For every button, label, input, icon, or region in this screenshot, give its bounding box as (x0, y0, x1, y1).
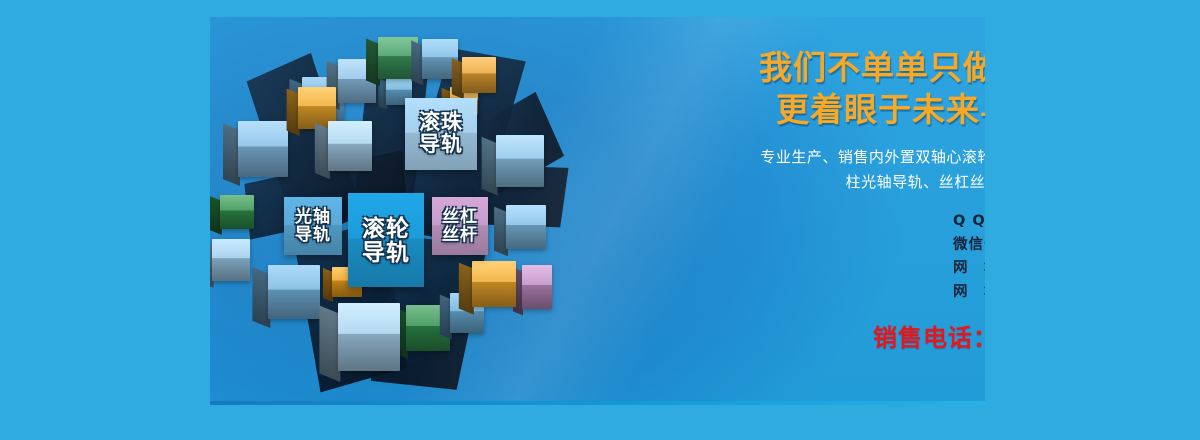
contact-row-website-2: 网 址：Www.Cnzxdg.Com (953, 281, 985, 304)
product-cube-sigang-sigan[interactable]: 丝杠丝杆 (432, 197, 488, 255)
qq-label: Q Q ： (953, 210, 985, 233)
headline-line-2: 更着眼于未来与您长期合作 (755, 89, 985, 131)
cube-front-face (212, 239, 250, 281)
product-cube-label-line-2: 导轨 (419, 134, 463, 156)
decorative-cube (522, 265, 552, 309)
headline-line-1: 我们不单单只做您目前的订单 (759, 48, 985, 87)
cube-cluster-graphic: 滚珠导轨光轴导轨滚轮导轨丝杠丝杆 (210, 17, 550, 405)
product-cube-label-line-1: 滚珠 (419, 112, 463, 134)
decorative-cube (462, 57, 496, 93)
headline: 我们不单单只做您目前的订单 更着眼于未来与您长期合作 (755, 47, 985, 131)
website-2-label: 网 址： (953, 281, 985, 304)
decorative-cube (496, 135, 544, 187)
cube-front-face (220, 195, 254, 229)
product-cube-gunzhu-daogui[interactable]: 滚珠导轨 (405, 98, 477, 170)
product-cube-label-line-1: 滚轮 (362, 216, 410, 240)
promo-banner: 滚珠导轨光轴导轨滚轮导轨丝杠丝杆 我们不单单只做您目前的订单 更着眼于未来与您长… (0, 0, 1200, 440)
product-cube-label-line-1: 光轴 (295, 208, 331, 226)
panel-bottom-bar (210, 401, 985, 405)
wechat-label: 微信号： (953, 234, 985, 257)
decorative-cube (472, 261, 516, 307)
contact-block: Q Q ：80286553 微信号：zxdgzc（直线导轨轴承） 网 址：Www… (755, 210, 985, 304)
product-cube-label: 滚轮导轨 (362, 216, 410, 265)
product-cube-label-line-1: 丝杠 (442, 208, 478, 226)
cube-front-face (472, 261, 516, 307)
cube-front-face (338, 303, 400, 371)
decorative-cube (338, 303, 400, 371)
cube-front-face (268, 265, 320, 319)
decorative-cube (328, 121, 372, 171)
copy-column: 我们不单单只做您目前的订单 更着眼于未来与您长期合作 专业生产、销售内外置双轴心… (755, 47, 985, 353)
product-cube-guangzhou-daogui[interactable]: 光轴导轨 (284, 197, 342, 255)
product-cube-gunlun-daogui[interactable]: 滚轮导轨 (348, 193, 424, 287)
decorative-cube (238, 121, 288, 177)
product-cube-label: 滚珠导轨 (419, 112, 463, 157)
contact-row-website-1: 网 址：Www.Zxdgzc.Com (953, 257, 985, 280)
cube-front-face (462, 57, 496, 93)
cube-front-face (506, 205, 546, 249)
decorative-cube (212, 239, 250, 281)
product-cube-label-line-2: 导轨 (295, 226, 331, 244)
website-1-label: 网 址： (953, 257, 985, 280)
product-cube-label-line-2: 丝杆 (442, 226, 478, 244)
product-cube-label: 光轴导轨 (295, 208, 331, 244)
product-cube-label-line-2: 导轨 (362, 240, 410, 264)
cube-front-face (496, 135, 544, 187)
sales-phone-label: 销售电话： (873, 324, 985, 352)
product-cube-label: 丝杠丝杆 (442, 208, 478, 244)
sales-phone[interactable]: 销售电话：18357860469 (755, 318, 985, 353)
contact-row-qq: Q Q ：80286553 (953, 210, 985, 233)
cube-front-face (238, 121, 288, 177)
cube-front-face (328, 121, 372, 171)
contact-row-wechat: 微信号：zxdgzc（直线导轨轴承） (953, 234, 985, 257)
ad-panel: 滚珠导轨光轴导轨滚轮导轨丝杠丝杆 我们不单单只做您目前的订单 更着眼于未来与您长… (210, 17, 985, 405)
description: 专业生产、销售内外置双轴心滚轮直线导轨、 滚珠直线导轨、圆柱光轴导轨、丝杠丝杆、… (755, 145, 985, 194)
decorative-cube (506, 205, 546, 249)
description-line-1: 专业生产、销售内外置双轴心滚轮直线导轨、 (760, 148, 985, 166)
decorative-cube (220, 195, 254, 229)
cube-front-face (522, 265, 552, 309)
decorative-cube (268, 265, 320, 319)
